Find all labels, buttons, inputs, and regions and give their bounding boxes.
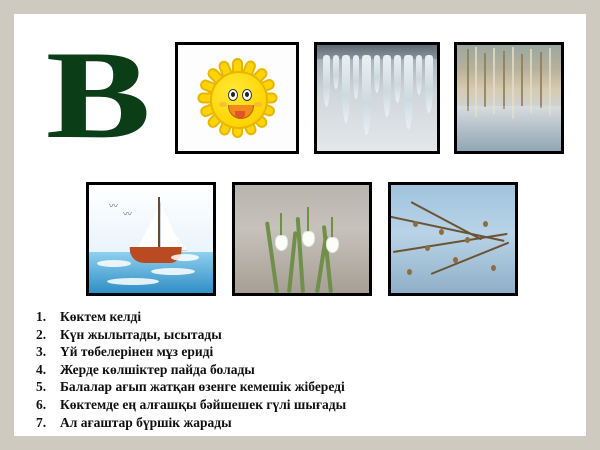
- icicle: [416, 55, 422, 95]
- sailboat-photo: 〰 〰: [86, 182, 216, 296]
- bud: [453, 257, 458, 263]
- seagull-icon: 〰: [109, 199, 118, 212]
- icicle: [425, 55, 433, 113]
- reed-stalk: [530, 49, 532, 113]
- bud: [413, 221, 418, 227]
- water-reflection: [457, 106, 561, 151]
- list-item-number: 5.: [36, 378, 60, 396]
- list-item: 5. Балалар ағып жатқан өзенге кемешік жі…: [36, 378, 572, 396]
- snowdrop-flower: [302, 231, 315, 247]
- snowdrop-flower: [326, 237, 339, 253]
- sun-photo: [175, 42, 299, 154]
- list-item-text: Көктем келді: [60, 308, 141, 326]
- sun-cheek: [254, 102, 262, 107]
- list-item-number: 1.: [36, 308, 60, 326]
- list-item-number: 6.: [36, 396, 60, 414]
- wave: [97, 260, 131, 267]
- list-item: 1. Көктем келді: [36, 308, 572, 326]
- icicle: [383, 55, 391, 117]
- stem: [331, 217, 333, 239]
- list-item: 3. Үй төбелерінен мұз ериді: [36, 343, 572, 361]
- list-item-number: 2.: [36, 326, 60, 344]
- icicle: [342, 55, 350, 123]
- slide-canvas: В: [14, 14, 586, 436]
- sun-eye: [242, 89, 252, 101]
- reed-stalk: [493, 48, 495, 114]
- icicle: [374, 55, 380, 93]
- icicle: [362, 55, 371, 135]
- icicles-photo: [314, 42, 440, 154]
- snowdrops-photo: [232, 182, 372, 296]
- list-item-text: Күн жылытады, ысытады: [60, 326, 222, 344]
- wave: [171, 254, 199, 261]
- sun-illustration: [178, 45, 296, 151]
- sun-disc: [210, 71, 268, 129]
- decorative-letter: В: [42, 36, 152, 156]
- list-item-text: Үй төбелерінен мұз ериді: [60, 343, 213, 361]
- list-item-number: 7.: [36, 414, 60, 432]
- list-item-text: Көктемде ең алғашқы бәйшешек гүлі шығады: [60, 396, 346, 414]
- list-item: 4. Жерде көлшіктер пайда болады: [36, 361, 572, 379]
- reed-stalk: [467, 49, 469, 111]
- list-item-text: Жерде көлшіктер пайда болады: [60, 361, 255, 379]
- branches-photo: [388, 182, 518, 296]
- bud: [483, 221, 488, 227]
- stem: [307, 207, 309, 233]
- icicle: [323, 55, 330, 107]
- list-item: 2. Күн жылытады, ысытады: [36, 326, 572, 344]
- seagull-icon: 〰: [123, 207, 132, 220]
- icicle: [333, 55, 339, 89]
- mast: [158, 197, 160, 249]
- sun-cheek: [219, 102, 227, 107]
- sun-eye: [228, 89, 238, 101]
- reed-stalk: [484, 53, 486, 107]
- bud: [425, 245, 430, 251]
- bud: [491, 265, 496, 271]
- sentence-list: 1. Көктем келді 2. Күн жылытады, ысытады…: [36, 308, 572, 431]
- list-item: 6. Көктемде ең алғашқы бәйшешек гүлі шығ…: [36, 396, 572, 414]
- icicle: [353, 55, 359, 99]
- wave: [107, 278, 159, 285]
- list-item-text: Балалар ағып жатқан өзенге кемешік жібер…: [60, 378, 345, 396]
- bud: [465, 237, 470, 243]
- reed-stalk: [521, 54, 523, 106]
- icicle: [404, 55, 413, 129]
- icicle: [394, 55, 401, 103]
- list-item-number: 3.: [36, 343, 60, 361]
- bud: [407, 269, 412, 275]
- bud: [439, 229, 444, 235]
- list-item-number: 4.: [36, 361, 60, 379]
- reed-stalk: [540, 52, 542, 108]
- wave: [151, 268, 195, 275]
- reeds-photo: [454, 42, 564, 154]
- snowdrop-flower: [275, 235, 288, 251]
- list-item-text: Ал ағаштар бүршік жарады: [60, 414, 232, 432]
- reed-stalk: [503, 51, 505, 109]
- decorative-letter-glyph: В: [46, 36, 149, 156]
- stem: [280, 213, 282, 237]
- list-item: 7. Ал ағаштар бүршік жарады: [36, 414, 572, 432]
